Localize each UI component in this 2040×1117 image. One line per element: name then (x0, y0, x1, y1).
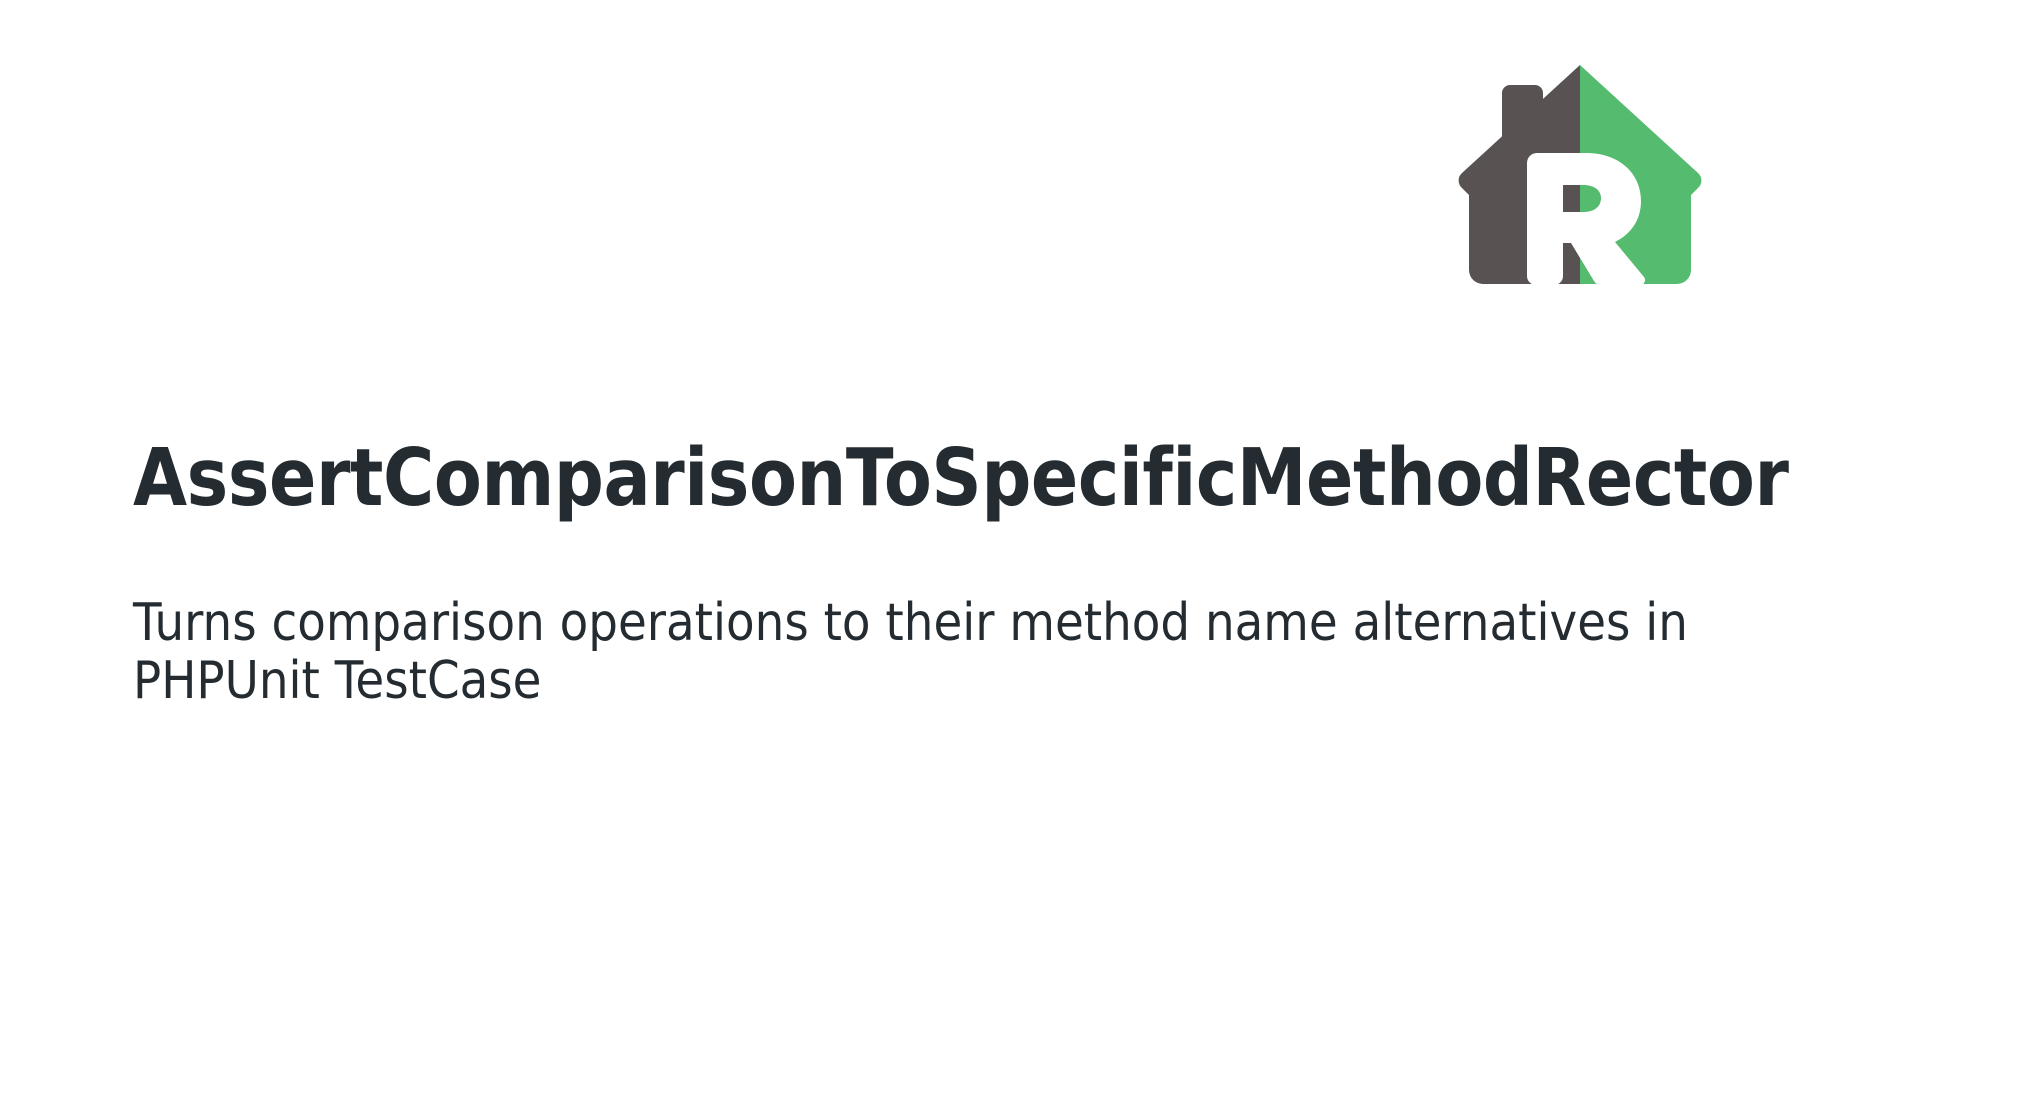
page-title: AssertComparisonToSpecificMethodRector (133, 430, 1664, 526)
content-block: AssertComparisonToSpecificMethodRector T… (133, 430, 1863, 710)
page-root: AssertComparisonToSpecificMethodRector T… (0, 0, 2040, 1117)
page-description: Turns comparison operations to their met… (133, 594, 1690, 710)
letter-r-glyph (1527, 153, 1645, 285)
rector-house-logo (1455, 55, 1705, 295)
house-logo-icon (1455, 55, 1705, 295)
